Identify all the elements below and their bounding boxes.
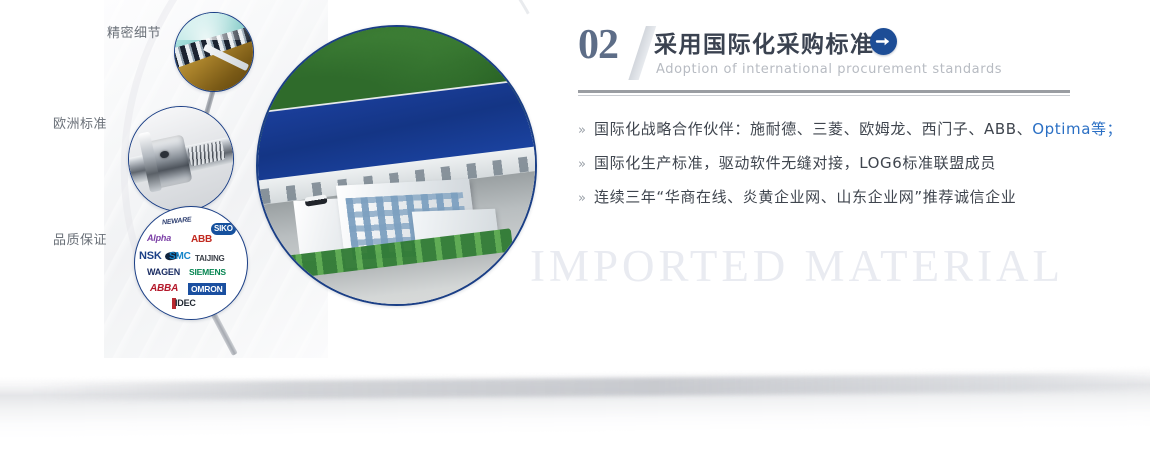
number-slash-decoration: [624, 26, 658, 80]
logo-siemens: SIEMENS: [189, 268, 226, 277]
right-content: 02 采用国际化采购标准 Adoption of international p…: [578, 24, 1138, 220]
floor-shadow-line: [40, 373, 1150, 401]
label-precision-detail: 精密细节: [107, 22, 161, 41]
logo-taijing: TAIJING: [195, 255, 225, 263]
page-stage: NEWARE SIKO Alpha ABB NSK SMC TAIJING WA…: [0, 0, 1150, 430]
logo-alpha: Alpha: [147, 234, 171, 243]
divider-thick-line: [578, 90, 1070, 93]
bullet-marker-icon: »: [578, 157, 594, 172]
list-item: » 国际化战略合作伙伴：施耐德、三菱、欧姆龙、西门子、ABB、Optima等；: [578, 118, 1138, 139]
logo-neware: NEWARE: [162, 216, 192, 226]
label-european-standard: 欧洲标准: [53, 113, 107, 132]
logo-abba: ABBA: [150, 284, 178, 294]
logo-abb: ABB: [191, 235, 212, 245]
factory-aerial-photo: [256, 25, 537, 306]
list-item-text-main: 连续三年“华商在线、炎黄企业网、山东企业网”推荐诚信企业: [594, 188, 1016, 206]
logo-smc: SMC: [169, 252, 191, 262]
precision-gear-macro-photo: [174, 12, 254, 92]
list-item-text-highlight: Optima等；: [1032, 120, 1122, 138]
arrow-right-circle-icon[interactable]: [870, 28, 897, 55]
feature-list: » 国际化战略合作伙伴：施耐德、三菱、欧姆龙、西门子、ABB、Optima等； …: [578, 118, 1138, 207]
floor-reflection: [0, 366, 1150, 438]
list-item-text: 连续三年“华商在线、炎黄企业网、山东企业网”推荐诚信企业: [594, 186, 1016, 207]
logo-omron: OMRON: [188, 283, 226, 295]
logo-nsk: NSK: [139, 251, 162, 262]
list-item-text: 国际化战略合作伙伴：施耐德、三菱、欧姆龙、西门子、ABB、Optima等；: [594, 118, 1122, 139]
section-number: 02: [578, 24, 618, 66]
logo-siko: SIKO: [211, 223, 236, 235]
list-item-text: 国际化生产标准，驱动软件无缝对接，LOG6标准联盟成员: [594, 152, 996, 173]
bullet-marker-icon: »: [578, 123, 594, 138]
glass-gloss: [174, 12, 253, 40]
logo-idec: IDEC: [175, 299, 196, 308]
page-title: 采用国际化采购标准: [654, 25, 875, 59]
list-item: » 国际化生产标准，驱动软件无缝对接，LOG6标准联盟成员: [578, 152, 1138, 173]
watermark-imported-material: IMPORTED MATERIAL: [530, 240, 1064, 292]
list-item-text-main: 国际化生产标准，驱动软件无缝对接，LOG6标准联盟成员: [594, 154, 996, 172]
page-subtitle: Adoption of international procurement st…: [656, 62, 1002, 77]
logo-wagen: WAGEN: [147, 268, 180, 277]
list-item: » 连续三年“华商在线、炎黄企业网、山东企业网”推荐诚信企业: [578, 186, 1138, 207]
ball-screw-component-photo: [128, 106, 234, 212]
section-header: 02 采用国际化采购标准 Adoption of international p…: [578, 24, 1138, 86]
bullet-marker-icon: »: [578, 191, 594, 206]
supplier-brand-logos: NEWARE SIKO Alpha ABB NSK SMC TAIJING WA…: [134, 206, 248, 320]
header-divider: [578, 90, 1070, 96]
label-quality-assurance: 品质保证: [53, 229, 107, 248]
divider-thin-line: [578, 95, 1070, 96]
list-item-text-main: 国际化战略合作伙伴：施耐德、三菱、欧姆龙、西门子、ABB、: [594, 120, 1032, 138]
